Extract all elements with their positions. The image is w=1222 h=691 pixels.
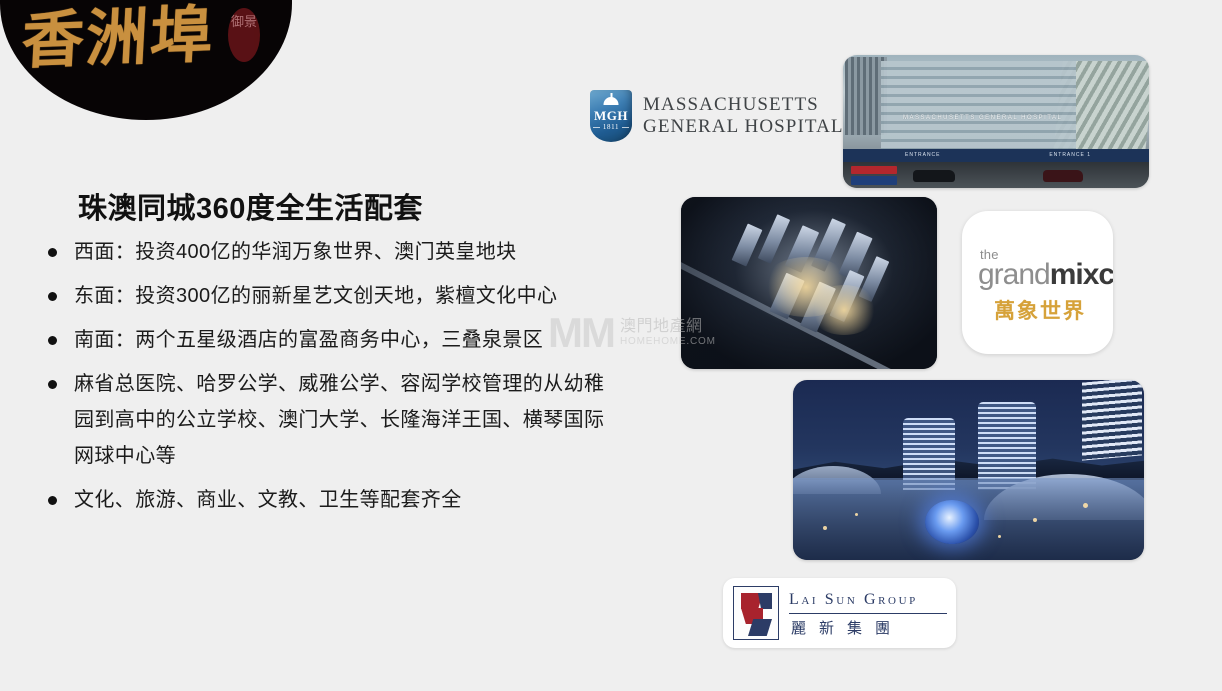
plaza-photo-light [855, 513, 858, 516]
lai-sun-group-logo: Lai Sun Group 麗新集團 [723, 578, 956, 648]
bullet-line: 网球中心等 [74, 438, 662, 474]
mgh-wordmark: MASSACHUSETTS GENERAL HOSPITAL [643, 94, 844, 138]
hospital-photo-car [1043, 170, 1083, 182]
hospital-photo-car [913, 170, 955, 182]
plaza-photo-light [1033, 518, 1037, 522]
plaza-photo-tower [1082, 380, 1142, 461]
list-item: 西面：投资400亿的华润万象世界、澳门英皇地块 [42, 234, 662, 270]
hospital-photo-canopy [843, 149, 1149, 162]
grand-mixc-logo: the grandmixc 萬象世界 [962, 211, 1113, 354]
aerial-photo-lights [809, 285, 879, 335]
aerial-city-photo [681, 197, 937, 369]
mgh-dome-icon [604, 97, 619, 105]
hospital-exterior-photo: MASSACHUSETTS GENERAL HOSPITAL ENTRANCE … [843, 55, 1149, 188]
brand-calligraphy-text: 香洲埠 [20, 3, 219, 76]
bullet-list: 西面：投资400亿的华润万象世界、澳门英皇地块 东面：投资300亿的丽新星艺文创… [42, 234, 662, 526]
lai-sun-mark-icon [733, 586, 779, 640]
mgh-logo: MGH 1811 MASSACHUSETTS GENERAL HOSPITAL [590, 90, 844, 142]
bullet-line: 麻省总医院、哈罗公学、威雅公学、容闳学校管理的从幼稚 [74, 366, 662, 402]
bullet-line: 园到高中的公立学校、澳门大学、长隆海洋王国、横琴国际 [74, 402, 662, 438]
lai-sun-chinese-name: 麗新集團 [791, 617, 903, 638]
bullet-dot-icon [48, 336, 57, 345]
plaza-photo-light [998, 535, 1001, 538]
lai-sun-mark-segment [758, 593, 772, 609]
lai-sun-english-name: Lai Sun Group [789, 591, 918, 609]
list-item: 南面：两个五星级酒店的富盈商务中心，三叠泉景区 [42, 322, 662, 358]
bullet-dot-icon [48, 292, 57, 301]
hospital-photo-blue-sign [851, 176, 897, 185]
bullet-line: 南面：两个五星级酒店的富盈商务中心，三叠泉景区 [74, 322, 662, 358]
mgh-abbreviation: MGH [590, 108, 632, 124]
bullet-dot-icon [48, 248, 57, 257]
brand-seal-stamp: 御景 [228, 8, 260, 62]
mgh-founding-year: 1811 [590, 123, 632, 131]
mixc-grand-text: grand [978, 258, 1050, 291]
page-title: 珠澳同城360度全生活配套 [78, 185, 423, 227]
plaza-photo-tower [978, 402, 1036, 490]
plaza-night-photo [793, 380, 1144, 560]
bullet-line: 东面：投资300亿的丽新星艺文创天地，紫檀文化中心 [74, 278, 662, 314]
plaza-photo-light [823, 526, 827, 530]
hospital-building-sign: MASSACHUSETTS GENERAL HOSPITAL [903, 115, 1062, 121]
bullet-dot-icon [48, 380, 57, 389]
brand-logo-inner: 香洲埠 御景 [0, 0, 292, 120]
mgh-shield-icon: MGH 1811 [590, 90, 632, 142]
plaza-photo-light [1083, 503, 1088, 508]
mgh-wordmark-line2: GENERAL HOSPITAL [643, 116, 844, 138]
mixc-wordmark: grandmixc [978, 259, 1113, 291]
brand-logo: 香洲埠 御景 [0, 0, 292, 120]
bullet-dot-icon [48, 496, 57, 505]
hospital-entrance-label-left: ENTRANCE [905, 152, 941, 158]
list-item: 麻省总医院、哈罗公学、威雅公学、容闳学校管理的从幼稚 园到高中的公立学校、澳门大… [42, 366, 662, 474]
mixc-chinese-name: 萬象世界 [994, 295, 1086, 325]
hospital-photo-glass-facade [881, 61, 1076, 153]
mixc-mixc-text: mixc [1050, 258, 1113, 291]
mgh-wordmark-line1: MASSACHUSETTS [643, 94, 844, 116]
lai-sun-divider [789, 613, 947, 614]
hospital-photo-red-sign [851, 166, 897, 174]
list-item: 文化、旅游、商业、文教、卫生等配套齐全 [42, 482, 662, 518]
bullet-line: 文化、旅游、商业、文教、卫生等配套齐全 [74, 482, 662, 518]
list-item: 东面：投资300亿的丽新星艺文创天地，紫檀文化中心 [42, 278, 662, 314]
plaza-photo-light-dome [925, 500, 979, 544]
slide-canvas: 香洲埠 御景 珠澳同城360度全生活配套 西面：投资400亿的华润万象世界、澳门… [0, 0, 1222, 691]
bullet-line: 西面：投资400亿的华润万象世界、澳门英皇地块 [74, 234, 662, 270]
hospital-entrance-label-right: ENTRANCE 1 [1049, 152, 1091, 158]
